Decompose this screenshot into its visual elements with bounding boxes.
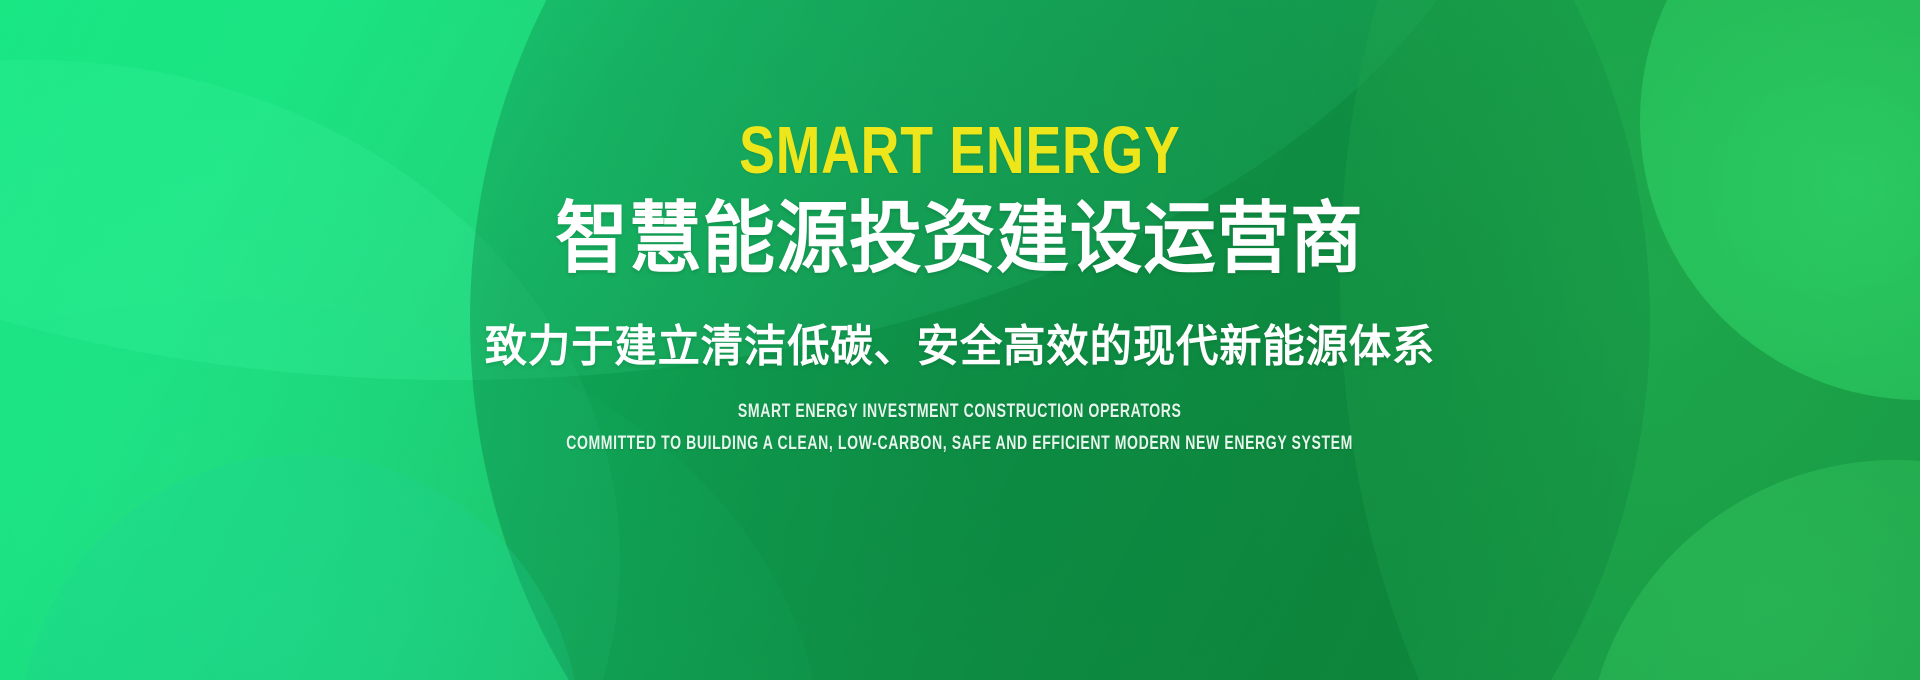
banner-content: SMART ENERGY 智慧能源投资建设运营商 致力于建立清洁低碳、安全高效的… — [0, 0, 1920, 680]
hero-banner: SMART ENERGY 智慧能源投资建设运营商 致力于建立清洁低碳、安全高效的… — [0, 0, 1920, 680]
banner-headline-chinese: 智慧能源投资建设运营商 — [556, 199, 1364, 277]
banner-subheadline-chinese: 致力于建立清洁低碳、安全高效的现代新能源体系 — [485, 325, 1435, 369]
banner-tagline-english-line-2: COMMITTED TO BUILDING A CLEAN, LOW-CARBO… — [567, 434, 1354, 453]
banner-tagline-english-line-1: SMART ENERGY INVESTMENT CONSTRUCTION OPE… — [738, 402, 1182, 421]
banner-headline-english: SMART ENERGY — [739, 117, 1180, 184]
